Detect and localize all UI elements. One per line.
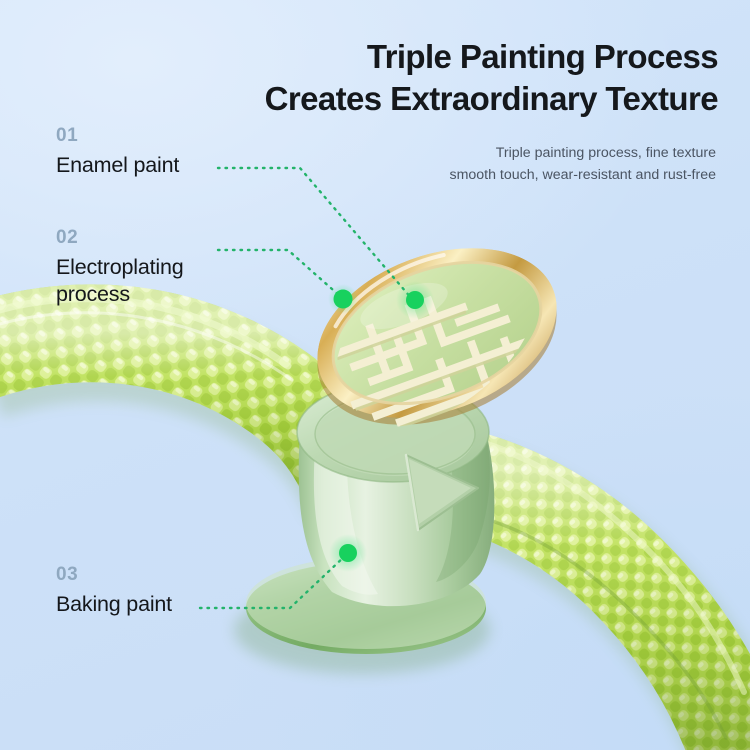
callout-03: 03 Baking paint bbox=[56, 565, 172, 618]
leader-line-02 bbox=[218, 250, 341, 297]
callout-03-number: 03 bbox=[56, 565, 172, 586]
subtitle-line-1: Triple painting process, fine texture bbox=[196, 142, 716, 164]
callout-02: 02 Electroplating process bbox=[56, 228, 183, 308]
product-marketing-image: Triple Painting Process Creates Extraord… bbox=[0, 0, 750, 750]
subtitle-line-2: smooth touch, wear-resistant and rust-fr… bbox=[196, 164, 716, 186]
callout-01: 01 Enamel paint bbox=[56, 126, 179, 179]
callout-02-label: Electroplating process bbox=[56, 254, 183, 309]
title-line-1: Triple Painting Process bbox=[18, 36, 718, 78]
title-line-2: Creates Extraordinary Texture bbox=[18, 78, 718, 120]
callout-02-number: 02 bbox=[56, 228, 183, 249]
callout-dot-03 bbox=[339, 544, 357, 562]
callout-01-number: 01 bbox=[56, 126, 179, 147]
page-title: Triple Painting Process Creates Extraord… bbox=[18, 36, 718, 120]
callout-01-label: Enamel paint bbox=[56, 152, 179, 179]
callout-03-label: Baking paint bbox=[56, 591, 172, 618]
callout-dot-02 bbox=[334, 290, 353, 309]
page-subtitle: Triple painting process, fine texture sm… bbox=[196, 142, 716, 187]
callout-dot-01 bbox=[406, 291, 424, 309]
